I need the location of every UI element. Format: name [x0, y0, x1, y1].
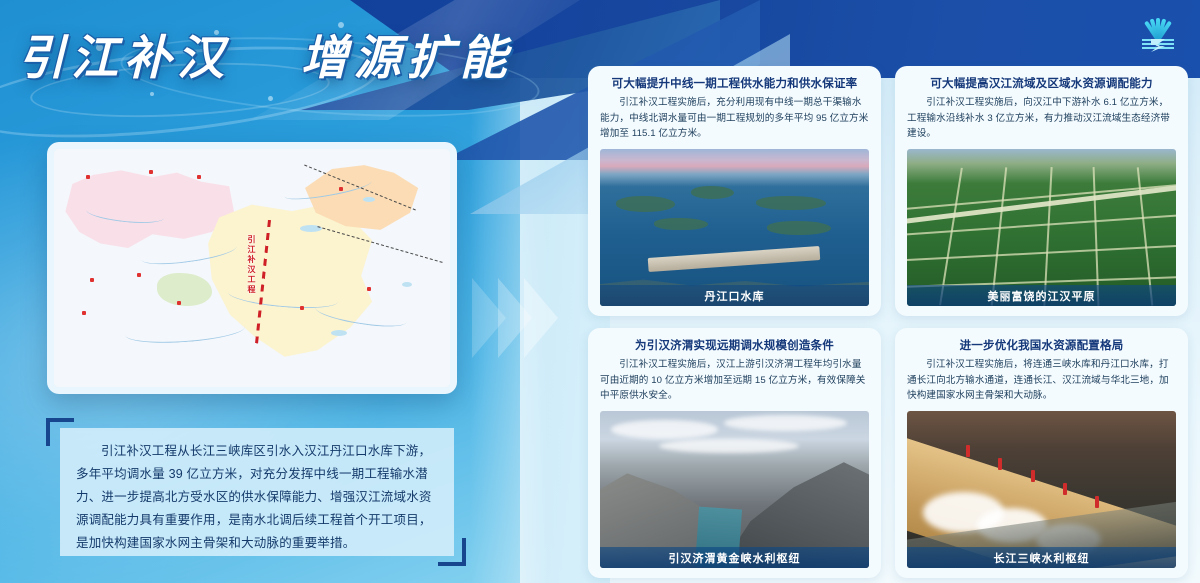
flow-arrows: [472, 278, 592, 358]
title-part-1: 引江补汉: [18, 31, 230, 86]
benefit-card-1[interactable]: 可大幅提升中线一期工程供水能力和供水保证率 引江补汉工程实施后，充分利用现有中线…: [588, 66, 881, 316]
card-body: 引江补汉工程实施后，充分利用现有中线一期总干渠输水能力，中线北调水量可由一期工程…: [600, 95, 869, 142]
han-river-basin-map[interactable]: 引江补汉工程: [47, 142, 457, 394]
photo-caption: 丹江口水库: [600, 285, 869, 306]
photo-caption: 美丽富饶的江汉平原: [907, 285, 1176, 306]
title-part-2: 增源扩能: [301, 31, 513, 86]
summary-box: 引江补汉工程从长江三峡库区引水入汉江丹江口水库下游，多年平均调水量 39 亿立方…: [60, 428, 454, 556]
map-lake: [363, 197, 375, 202]
map-canvas: 引江补汉工程: [54, 149, 450, 387]
huangjinxia-hub-photo: 引汉济渭黄金峡水利枢纽: [600, 411, 869, 569]
map-city-marker: [300, 306, 304, 310]
water-droplet-icon: [268, 96, 273, 101]
map-city-marker: [177, 301, 181, 305]
map-city-marker: [90, 278, 94, 282]
route-label: 引江补汉工程: [246, 235, 257, 295]
map-city-marker: [137, 273, 141, 277]
map-lake: [331, 330, 347, 336]
benefit-card-4[interactable]: 进一步优化我国水资源配置格局 引江补汉工程实施后，将连通三峡水库和丹江口水库，打…: [895, 328, 1188, 578]
chevron-right-icon: [524, 278, 558, 358]
jianghan-plain-photo: 美丽富饶的江汉平原: [907, 149, 1176, 307]
benefit-card-3[interactable]: 为引汉济渭实现远期调水规模创造条件 引江补汉工程实施后，汉江上游引汉济渭工程年均…: [588, 328, 881, 578]
map-city-marker: [367, 287, 371, 291]
page-title: 引江补汉 增源扩能: [18, 14, 488, 92]
three-gorges-dam-photo: 长江三峡水利枢纽: [907, 411, 1176, 569]
map-city-marker: [339, 187, 343, 191]
benefit-card-2[interactable]: 可大幅提高汉江流域及区域水资源调配能力 引江补汉工程实施后，向汉江中下游补水 6…: [895, 66, 1188, 316]
card-title: 可大幅提升中线一期工程供水能力和供水保证率: [600, 76, 869, 92]
card-body: 引江补汉工程实施后，将连通三峡水库和丹江口水库，打通长江向北方输水通道，连通长江…: [907, 357, 1176, 404]
card-body: 引江补汉工程实施后，向汉江中下游补水 6.1 亿立方米，工程输水沿线补水 3 亿…: [907, 95, 1176, 142]
photo-caption: 长江三峡水利枢纽: [907, 547, 1176, 568]
benefit-cards-grid: 可大幅提升中线一期工程供水能力和供水保证率 引江补汉工程实施后，充分利用现有中线…: [588, 66, 1188, 578]
map-city-marker: [197, 175, 201, 179]
map-city-marker: [149, 170, 153, 174]
water-droplet-icon: [150, 92, 154, 96]
card-title: 进一步优化我国水资源配置格局: [907, 338, 1176, 354]
danjiangkou-reservoir-photo: 丹江口水库: [600, 149, 869, 307]
photo-caption: 引汉济渭黄金峡水利枢纽: [600, 547, 869, 568]
card-title: 可大幅提高汉江流域及区域水资源调配能力: [907, 76, 1176, 92]
map-city-marker: [82, 311, 86, 315]
card-body: 引江补汉工程实施后，汉江上游引汉济渭工程年均引水量可由近期的 10 亿立方米增加…: [600, 357, 869, 404]
card-title: 为引汉济渭实现远期调水规模创造条件: [600, 338, 869, 354]
fan-rays-logo-icon: [1130, 6, 1186, 54]
summary-text: 引江补汉工程从长江三峡库区引水入汉江丹江口水库下游，多年平均调水量 39 亿立方…: [76, 440, 438, 555]
infographic-stage: 引江补汉 增源扩能: [0, 0, 1200, 583]
map-city-marker: [86, 175, 90, 179]
project-summary: 引江补汉工程从长江三峡库区引水入汉江丹江口水库下游，多年平均调水量 39 亿立方…: [46, 418, 466, 566]
